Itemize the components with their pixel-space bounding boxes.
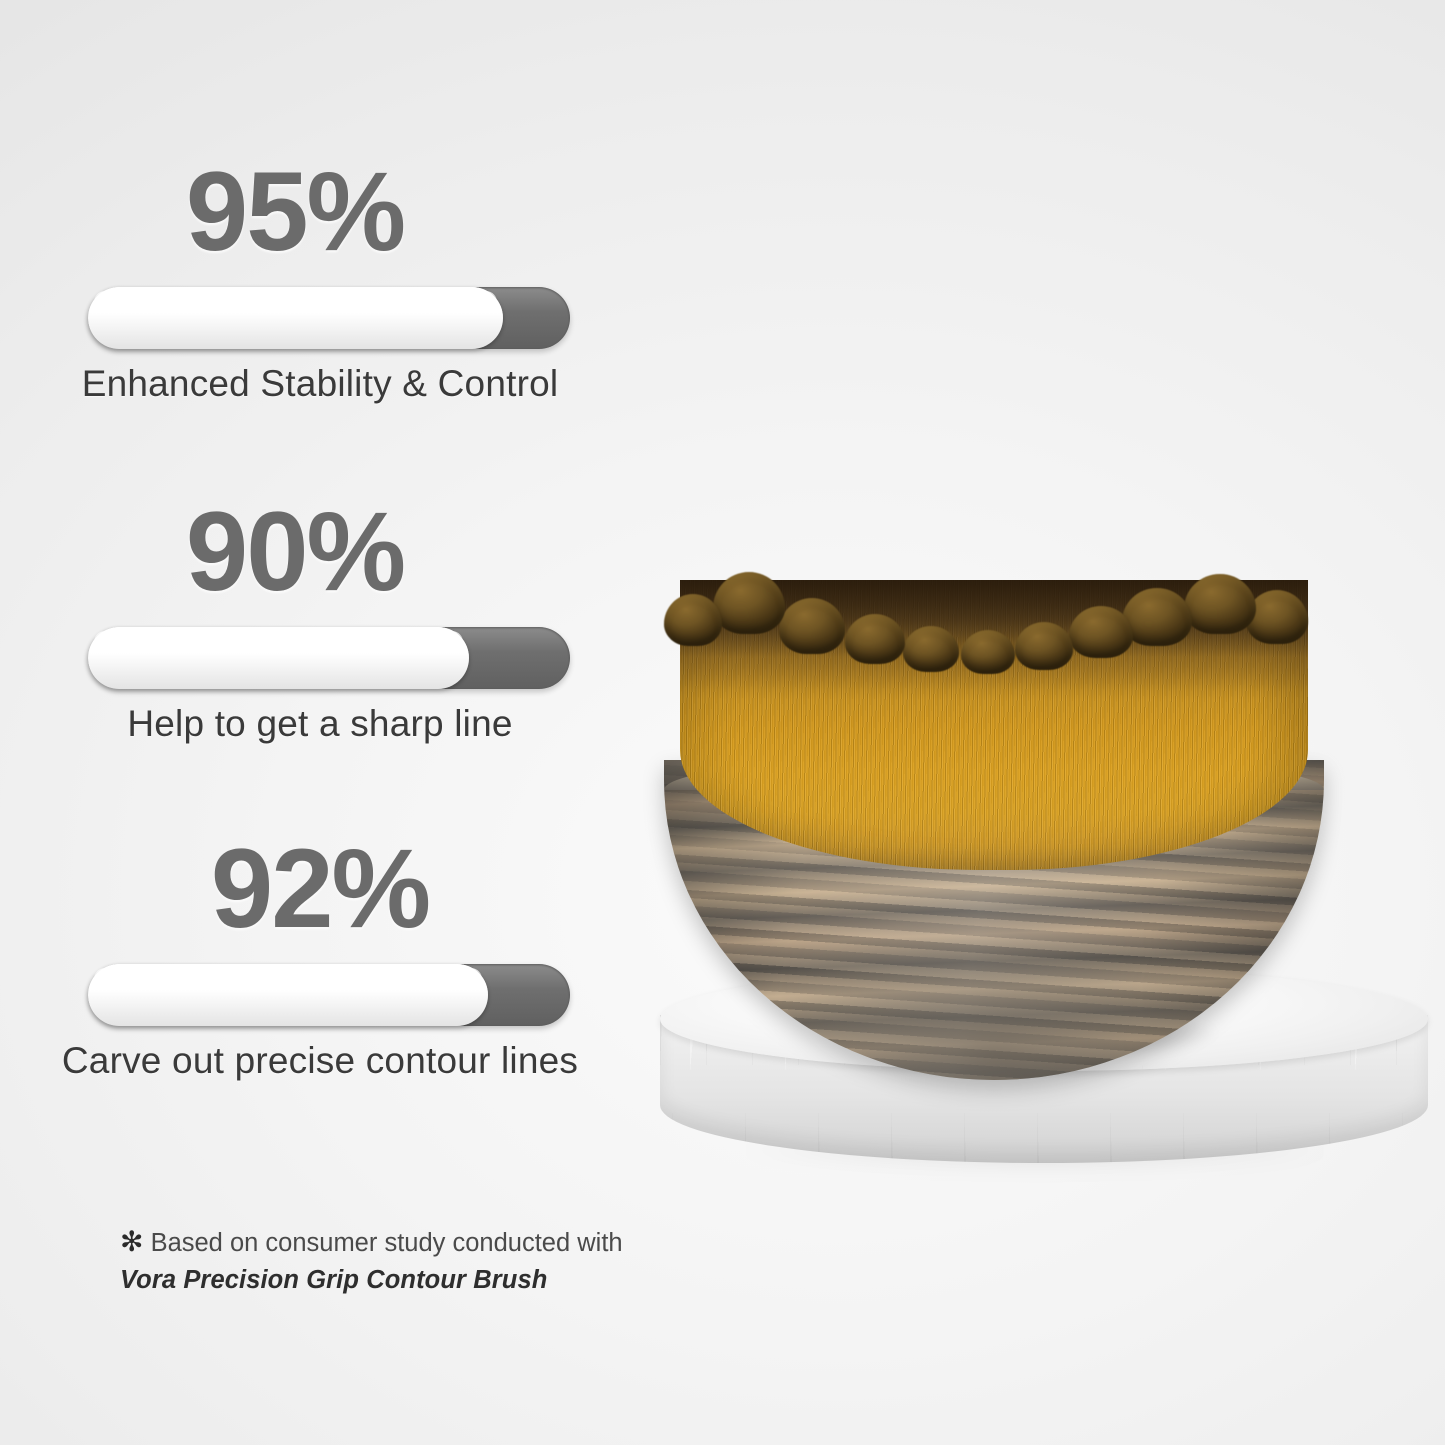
- statistics-panel: 95% Enhanced Stability & Control 90%: [0, 0, 640, 1180]
- footnote-text: Based on consumer study conducted with: [151, 1229, 623, 1257]
- stat-caption-3: Carve out precise contour lines: [0, 1040, 640, 1082]
- bristle-tuft: [1246, 590, 1308, 644]
- stat-percent-3: 92%: [0, 832, 640, 946]
- product-scene: [620, 520, 1445, 1240]
- stat-caption-1: Enhanced Stability & Control: [0, 363, 640, 405]
- bristle-tuft: [1015, 622, 1073, 670]
- progress-bar-track-2: [88, 627, 570, 689]
- stat-percent-1: 95%: [0, 155, 590, 269]
- bristle-tuft: [779, 598, 845, 654]
- asterisk-icon: ✻: [120, 1226, 143, 1257]
- progress-bar-wrapper-2: [0, 627, 640, 689]
- progress-bar-fill-2: [88, 627, 469, 689]
- stat-block-1: 95% Enhanced Stability & Control: [0, 155, 640, 405]
- bristle-tuft: [1069, 606, 1133, 658]
- product-infographic: 95% Enhanced Stability & Control 90%: [0, 0, 1445, 1445]
- progress-bar-fill-3: [88, 964, 488, 1026]
- stat-percent-2: 90%: [0, 495, 590, 609]
- bristle-tuft: [961, 630, 1015, 674]
- progress-bar-wrapper-3: [0, 964, 640, 1026]
- bristle-tuft: [845, 614, 905, 664]
- progress-bar-track-3: [88, 964, 570, 1026]
- progress-bar-fill-1: [88, 287, 503, 349]
- stat-block-2: 90% Help to get a sharp line: [0, 495, 640, 745]
- progress-bar-gloss-1: [94, 291, 497, 313]
- stat-block-3: 92% Carve out precise contour lines: [0, 832, 640, 1082]
- bristle-tuft: [713, 572, 785, 634]
- progress-bar-gloss-2: [94, 631, 463, 653]
- contour-brush-product: [644, 560, 1344, 1060]
- bristle-tuft: [903, 626, 959, 672]
- bristle-tuft: [1122, 588, 1192, 646]
- bristle-tuft: [1184, 574, 1256, 634]
- progress-bar-wrapper-1: [0, 287, 640, 349]
- brush-bristle-tufts: [680, 560, 1308, 680]
- progress-bar-gloss-3: [94, 968, 482, 990]
- bristle-tuft: [664, 594, 722, 646]
- progress-bar-track-1: [88, 287, 570, 349]
- footnote-brand-name: Vora Precision Grip Contour Brush: [120, 1262, 760, 1298]
- stat-caption-2: Help to get a sharp line: [0, 703, 640, 745]
